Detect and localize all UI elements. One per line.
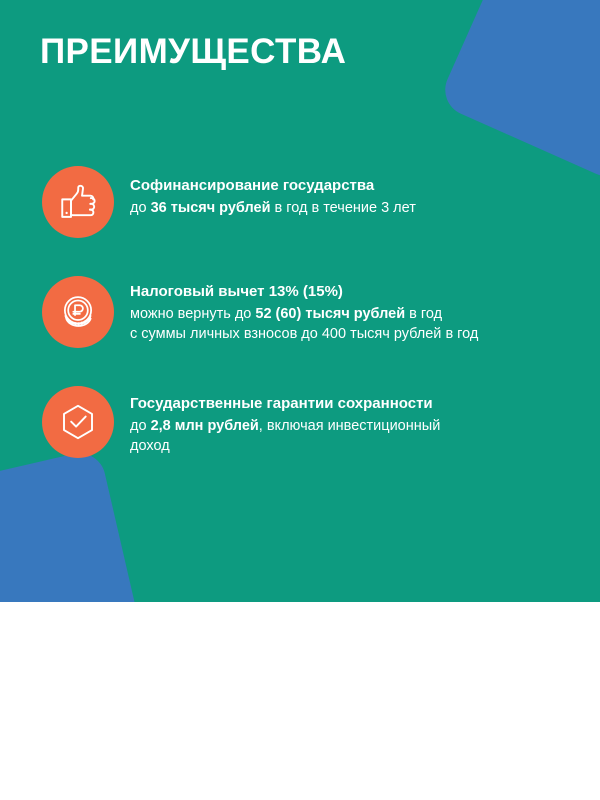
benefit-headline: Государственные гарантии сохранности — [130, 394, 600, 414]
slide-root: ПРЕИМУЩЕСТВА Софинансирование — [0, 0, 600, 800]
benefit-detail-line: до 36 тысяч рублей в год в течение 3 лет — [130, 198, 600, 218]
benefit-icon-badge — [42, 386, 114, 458]
benefit-copy: Государственные гарантии сохранности до … — [114, 386, 600, 456]
benefit-detail-line: до 2,8 млн рублей, включая инвестиционны… — [130, 416, 600, 436]
benefit-copy: Налоговый вычет 13% (15%) можно вернуть … — [114, 276, 600, 344]
benefit-icon-badge — [42, 276, 114, 348]
benefit-item: Государственные гарантии сохранности до … — [0, 386, 600, 458]
benefit-item: Софинансирование государства до 36 тысяч… — [0, 166, 600, 238]
hexagon-check-icon — [57, 401, 99, 443]
benefits-list: Софинансирование государства до 36 тысяч… — [0, 166, 600, 458]
thumbs-up-icon — [57, 181, 99, 223]
benefit-icon-badge — [42, 166, 114, 238]
decorative-blue-shape-bottom-left — [0, 448, 144, 602]
ruble-coin-icon — [57, 291, 99, 333]
benefit-detail-line: можно вернуть до 52 (60) тысяч рублей в … — [130, 304, 600, 324]
benefit-copy: Софинансирование государства до 36 тысяч… — [114, 166, 600, 218]
page-title: ПРЕИМУЩЕСТВА — [40, 31, 346, 73]
benefit-detail-line: доход — [130, 436, 600, 456]
teal-panel: ПРЕИМУЩЕСТВА Софинансирование — [0, 0, 600, 602]
benefit-detail-line: с суммы личных взносов до 400 тысяч рубл… — [130, 324, 600, 344]
benefit-headline: Налоговый вычет 13% (15%) — [130, 282, 600, 302]
benefit-item: Налоговый вычет 13% (15%) можно вернуть … — [0, 276, 600, 348]
benefit-headline: Софинансирование государства — [130, 176, 600, 196]
decorative-blue-shape-top-right — [437, 0, 600, 184]
